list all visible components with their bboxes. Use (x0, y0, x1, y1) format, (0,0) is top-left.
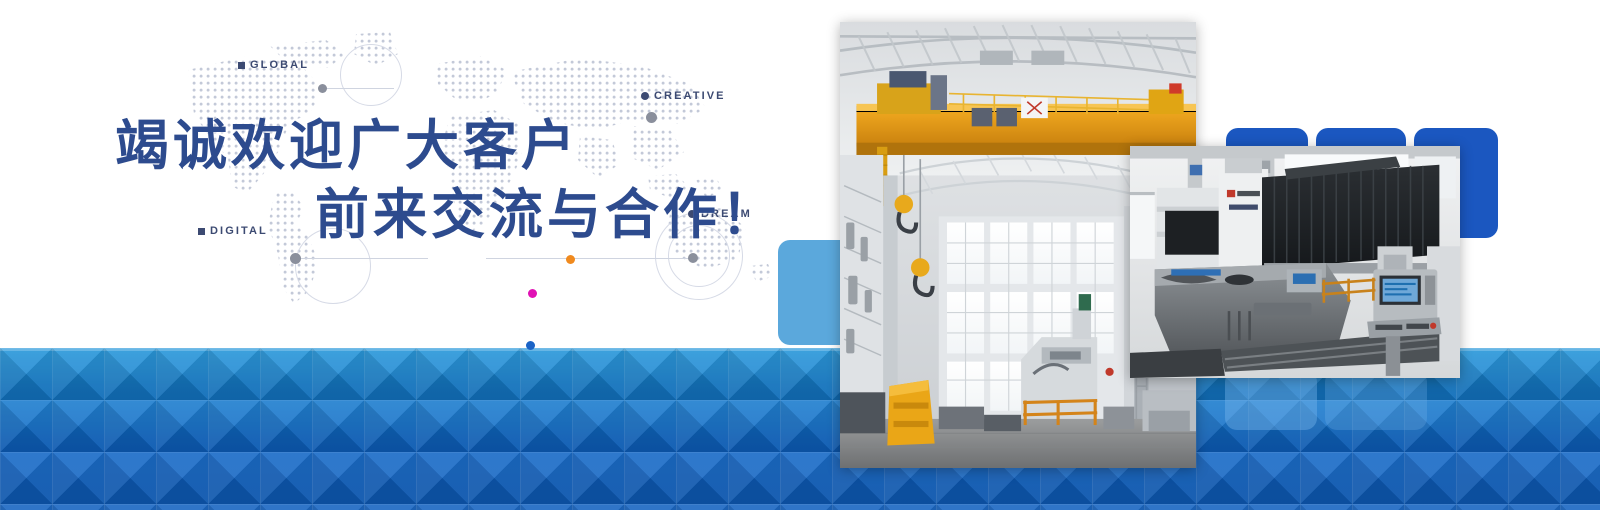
map-node-3 (290, 253, 301, 264)
map-label-text: CREATIVE (654, 90, 726, 102)
cnc-gantry-machine-photo[interactable] (1130, 146, 1460, 378)
circle-bullet-icon (641, 92, 649, 100)
map-label-text: GLOBAL (250, 59, 309, 71)
map-connector-3 (486, 258, 692, 259)
map-label-global: GLOBAL (238, 59, 309, 71)
magenta-accent-dot (528, 289, 537, 298)
cnc-photo-image (1130, 146, 1460, 378)
square-bullet-icon (238, 62, 245, 69)
map-node-4 (688, 253, 698, 263)
map-connector-2 (296, 258, 428, 259)
headline-line-2: 前来交流与合作！ (115, 181, 795, 250)
promo-banner: GLOBAL CREATIVE DIGITAL DREAM 竭诚欢迎广大客户 前… (0, 0, 1600, 510)
band-light-block-2 (1325, 370, 1427, 430)
headline-block: 竭诚欢迎广大客户 前来交流与合作！ (115, 112, 795, 250)
band-light-block-1 (1225, 370, 1317, 430)
headline-line-1: 竭诚欢迎广大客户 (115, 116, 579, 176)
decor-ring-1 (340, 44, 402, 106)
orange-accent-dot (566, 255, 575, 264)
map-node-1 (318, 84, 327, 93)
map-connector-1 (322, 88, 394, 89)
map-label-creative: CREATIVE (641, 90, 726, 102)
